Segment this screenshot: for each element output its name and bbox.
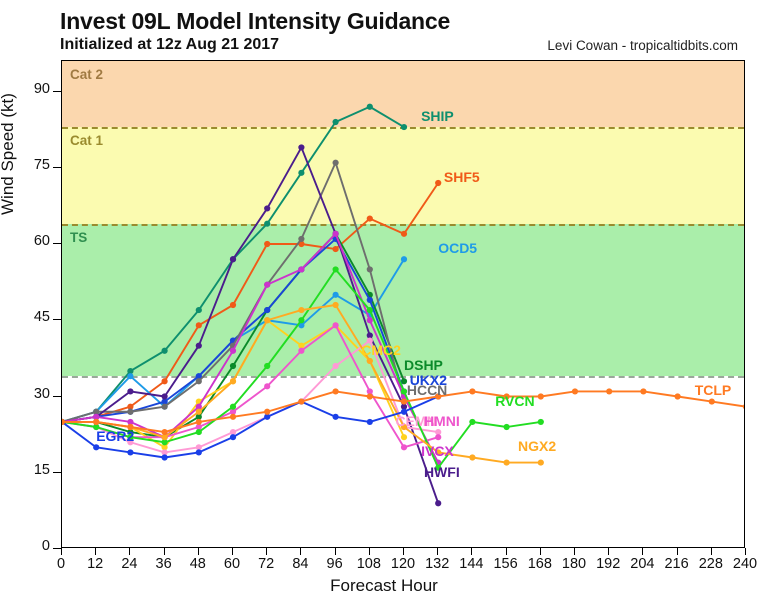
x-tick-mark [608,548,609,555]
x-tick-mark [232,548,233,555]
data-point [196,378,202,384]
y-tick-label: 90 [0,81,50,97]
data-point [162,429,168,435]
x-tick-mark [95,548,96,555]
data-point [230,302,236,308]
data-point [264,383,270,389]
data-point [435,393,441,399]
data-point [264,307,270,313]
x-tick-mark [164,548,165,555]
data-point [196,429,202,435]
data-point [264,409,270,415]
data-point [298,236,304,242]
data-point [264,282,270,288]
data-point [435,449,441,455]
data-point [264,205,270,211]
credit-text: Levi Cowan - tropicaltidbits.com [547,38,738,53]
data-point [401,124,407,130]
data-point [333,266,339,272]
data-point [435,500,441,506]
data-point [127,434,133,440]
data-point [298,144,304,150]
y-tick-mark [53,243,61,244]
data-point [367,337,373,343]
plot-area: TSCat 1Cat 2 SHIPSHF5OCD5DSHPUKX2HCCNHWF… [61,60,745,548]
data-point [333,160,339,166]
data-point [196,419,202,425]
y-tick-label: 0 [0,538,50,554]
x-tick-mark [335,548,336,555]
data-point [709,398,715,404]
data-point [162,454,168,460]
data-point [230,434,236,440]
data-point [469,454,475,460]
data-point [435,180,441,186]
data-point [401,231,407,237]
x-tick-mark [677,548,678,555]
data-point [230,414,236,420]
data-point [606,388,612,394]
series-line-ngx2 [62,305,541,463]
data-point [367,215,373,221]
data-point [333,302,339,308]
data-point [298,266,304,272]
data-point [401,409,407,415]
data-point [162,393,168,399]
data-point [298,348,304,354]
x-tick-mark [574,548,575,555]
data-point [401,388,407,394]
data-point [93,444,99,450]
data-point [367,317,373,323]
data-point [504,459,510,465]
data-point [196,343,202,349]
data-point [435,434,441,440]
data-point [162,348,168,354]
y-tick-mark [53,91,61,92]
data-point [298,170,304,176]
data-point [367,393,373,399]
data-point [230,348,236,354]
data-point [230,404,236,410]
data-point [743,404,745,410]
data-point [401,398,407,404]
y-tick-mark [53,319,61,320]
data-point [127,424,133,430]
data-point [640,388,646,394]
data-point [127,449,133,455]
data-point [504,424,510,430]
x-tick-mark [403,548,404,555]
y-axis-label: Wind Speed (kt) [0,93,18,215]
data-point [435,465,441,471]
data-point [264,363,270,369]
x-tick-mark [437,548,438,555]
data-point [367,419,373,425]
data-point [367,266,373,272]
data-point [504,393,510,399]
x-tick-mark [540,548,541,555]
x-tick-mark [506,548,507,555]
data-point [162,378,168,384]
y-tick-label: 45 [0,309,50,325]
data-point [572,388,578,394]
data-point [401,444,407,450]
data-point [538,393,544,399]
data-point [298,307,304,313]
data-point [333,388,339,394]
data-point [298,317,304,323]
data-point [401,434,407,440]
data-point [675,393,681,399]
data-point [367,297,373,303]
data-point [196,449,202,455]
page-title: Invest 09L Model Intensity Guidance [60,8,450,35]
data-point [93,419,99,425]
data-point [127,373,133,379]
series-line-egr2 [62,397,438,458]
x-tick-mark [711,548,712,555]
data-point [333,322,339,328]
data-point [469,419,475,425]
data-point [333,414,339,420]
data-point [333,292,339,298]
data-point [230,378,236,384]
data-point [538,419,544,425]
data-point [264,317,270,323]
data-point [230,256,236,262]
data-point [264,221,270,227]
y-tick-label: 75 [0,157,50,173]
data-point [196,307,202,313]
data-point [333,363,339,369]
data-point [230,363,236,369]
data-point [264,241,270,247]
x-tick-mark [129,548,130,555]
data-point [401,424,407,430]
chart-page: Invest 09L Model Intensity Guidance Init… [0,0,768,600]
data-point [127,388,133,394]
y-tick-label: 15 [0,462,50,478]
x-tick-mark [369,548,370,555]
x-tick-label: 240 [725,556,765,572]
y-tick-mark [53,396,61,397]
data-point [538,459,544,465]
x-tick-mark [642,548,643,555]
data-point [367,307,373,313]
data-point [367,104,373,110]
x-tick-mark [471,548,472,555]
x-tick-mark [300,548,301,555]
x-tick-mark [61,548,62,555]
x-axis-label: Forecast Hour [0,576,768,596]
data-point [127,409,133,415]
y-tick-mark [53,167,61,168]
data-point [196,409,202,415]
x-tick-mark [198,548,199,555]
page-subtitle: Initialized at 12z Aug 21 2017 [60,36,279,54]
x-tick-mark [266,548,267,555]
series-lines [62,61,745,548]
y-tick-label: 30 [0,386,50,402]
data-point [196,322,202,328]
y-tick-mark [53,548,61,549]
y-tick-label: 60 [0,233,50,249]
y-tick-mark [53,472,61,473]
data-point [333,231,339,237]
data-point [401,256,407,262]
data-point [367,358,373,364]
data-point [162,404,168,410]
data-point [469,388,475,394]
data-point [333,119,339,125]
series-line-cemn [62,341,438,453]
data-point [333,246,339,252]
data-point [298,398,304,404]
x-tick-mark [745,548,746,555]
